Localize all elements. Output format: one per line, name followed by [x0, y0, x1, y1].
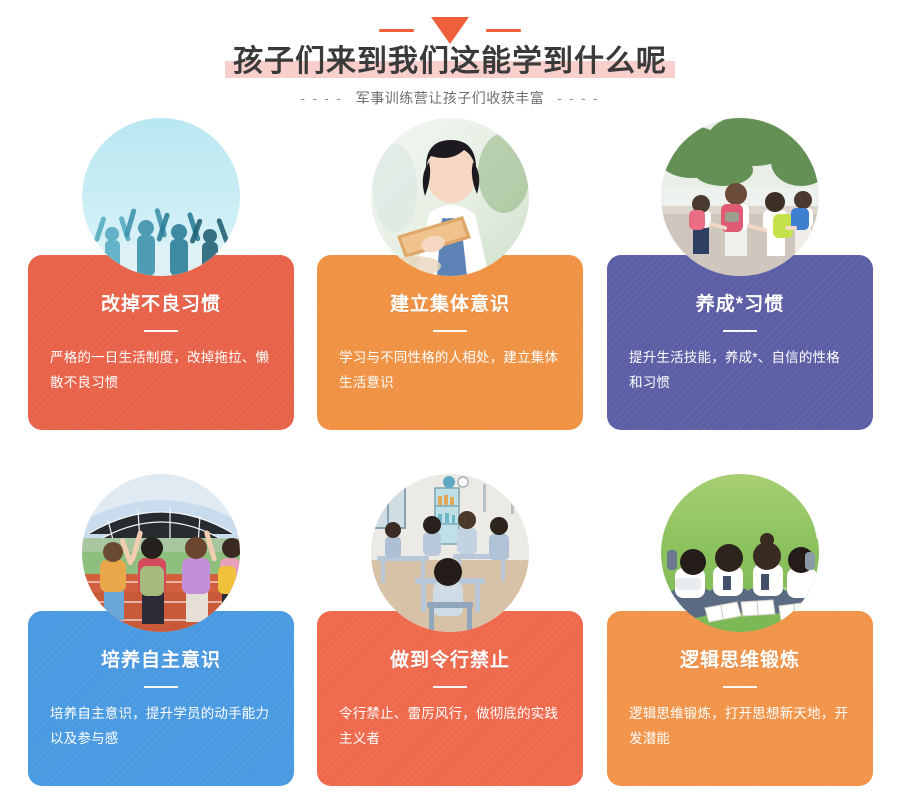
card-body: 做到令行禁止 令行禁止、雷厉风行，做彻底的实践主义者 — [317, 611, 583, 786]
card-title: 建立集体意识 — [339, 293, 561, 317]
landing-page: 孩子们来到我们这能学到什么呢 - - - - 军事训练营让孩子们收获丰富 - -… — [0, 0, 900, 795]
section-header: 孩子们来到我们这能学到什么呢 - - - - 军事训练营让孩子们收获丰富 - -… — [0, 0, 900, 118]
photo-children-reading-on-grass — [661, 474, 819, 632]
card-divider — [723, 686, 757, 688]
card-description: 学习与不同性格的人相处，建立集体生活意识 — [339, 345, 561, 395]
card-row: 改掉不良习惯 严格的一日生活制度，改掉拖拉、懒散不良习惯 — [0, 118, 900, 448]
card-body: 养成*习惯 提升生活技能，养成*、自信的性格和习惯 — [607, 255, 873, 430]
card-description: 培养自主意识，提升学员的动手能力以及参与感 — [50, 701, 272, 751]
card-body: 培养自主意识 培养自主意识，提升学员的动手能力以及参与感 — [28, 611, 294, 786]
feature-card-1[interactable]: 改掉不良习惯 严格的一日生活制度，改掉拖拉、懒散不良习惯 — [28, 118, 294, 440]
page-title-wrap: 孩子们来到我们这能学到什么呢 — [0, 42, 900, 82]
photo-classroom-students-desks — [371, 474, 529, 632]
page-subtitle: 军事训练营让孩子们收获丰富 — [356, 88, 545, 108]
subtitle-dashes-left: - - - - — [301, 91, 343, 106]
page-subtitle-row: - - - - 军事训练营让孩子们收获丰富 - - - - — [0, 88, 900, 108]
card-body: 建立集体意识 学习与不同性格的人相处，建立集体生活意识 — [317, 255, 583, 430]
photo-students-stadium-cheering — [82, 474, 240, 632]
card-description: 逻辑思维锻炼，打开思想新天地，开发潜能 — [629, 701, 851, 751]
marker-line-left — [379, 29, 414, 32]
card-title: 养成*习惯 — [629, 293, 851, 317]
card-row: 培养自主意识 培养自主意识，提升学员的动手能力以及参与感 — [0, 474, 900, 795]
card-divider — [144, 686, 178, 688]
feature-card-4[interactable]: 培养自主意识 培养自主意识，提升学员的动手能力以及参与感 — [28, 474, 294, 795]
card-title: 逻辑思维锻炼 — [629, 649, 851, 673]
card-body: 改掉不良习惯 严格的一日生活制度，改掉拖拉、懒散不良习惯 — [28, 255, 294, 430]
card-title: 培养自主意识 — [50, 649, 272, 673]
page-title: 孩子们来到我们这能学到什么呢 — [233, 45, 667, 78]
card-title: 做到令行禁止 — [339, 649, 561, 673]
card-divider — [433, 686, 467, 688]
marker-line-right — [486, 29, 521, 32]
card-description: 提升生活技能，养成*、自信的性格和习惯 — [629, 345, 851, 395]
photo-girl-with-clipboard — [371, 118, 529, 276]
subtitle-dashes-right: - - - - — [557, 91, 599, 106]
feature-card-3[interactable]: 养成*习惯 提升生活技能，养成*、自信的性格和习惯 — [607, 118, 873, 440]
card-description: 令行禁止、雷厉风行，做彻底的实践主义者 — [339, 701, 561, 751]
card-divider — [144, 330, 178, 332]
photo-kids-raising-arms-sky — [82, 118, 240, 276]
card-divider — [433, 330, 467, 332]
feature-card-2[interactable]: 建立集体意识 学习与不同性格的人相处，建立集体生活意识 — [317, 118, 583, 440]
photo-children-with-backpacks — [661, 118, 819, 276]
card-description: 严格的一日生活制度，改掉拖拉、懒散不良习惯 — [50, 345, 272, 395]
card-title: 改掉不良习惯 — [50, 293, 272, 317]
feature-card-grid: 改掉不良习惯 严格的一日生活制度，改掉拖拉、懒散不良习惯 — [0, 118, 900, 795]
card-divider — [723, 330, 757, 332]
feature-card-5[interactable]: 做到令行禁止 令行禁止、雷厉风行，做彻底的实践主义者 — [317, 474, 583, 795]
down-triangle-icon — [431, 17, 469, 44]
feature-card-6[interactable]: 逻辑思维锻炼 逻辑思维锻炼，打开思想新天地，开发潜能 — [607, 474, 873, 795]
card-body: 逻辑思维锻炼 逻辑思维锻炼，打开思想新天地，开发潜能 — [607, 611, 873, 786]
